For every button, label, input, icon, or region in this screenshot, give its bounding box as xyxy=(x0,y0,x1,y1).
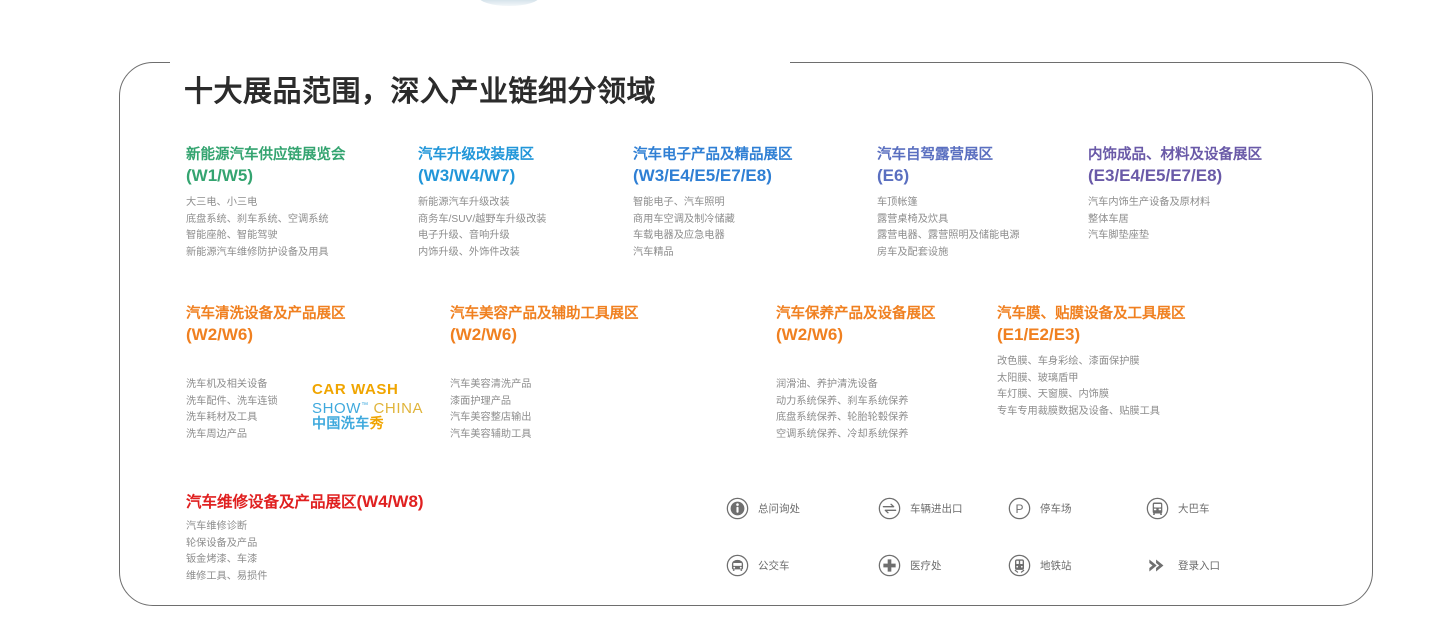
category-title: 汽车清洗设备及产品展区 xyxy=(186,305,346,324)
category-block-auto-electronics: 汽车电子产品及精品展区 (W3/E4/E5/E7/E8) 智能电子、汽车照明 商… xyxy=(633,146,793,261)
legend-label: 登录入口 xyxy=(1178,558,1220,573)
list-item: 底盘系统、刹车系统、空调系统 xyxy=(186,212,346,229)
category-halls: (E1/E2/E3) xyxy=(997,324,1186,345)
list-item: 车载电器及应急电器 xyxy=(633,228,793,245)
list-item: 汽车脚垫座垫 xyxy=(1088,228,1262,245)
category-halls: (E3/E4/E5/E7/E8) xyxy=(1088,165,1262,186)
medical-icon xyxy=(878,554,901,577)
category-title-text: 汽车维修设备及产品展区 xyxy=(186,494,357,511)
category-block-maintenance-products: 汽车保养产品及设备展区 (W2/W6) 润滑油、养护清洗设备 动力系统保养、刹车… xyxy=(776,305,936,443)
category-items: 汽车维修诊断 轮保设备及产品 钣金烤漆、车漆 维修工具、易损件 xyxy=(186,519,424,585)
category-title: 汽车保养产品及设备展区 xyxy=(776,305,936,324)
legend-label: 总问询处 xyxy=(758,501,800,516)
category-block-interior-materials: 内饰成品、材料及设备展区 (E3/E4/E5/E7/E8) 汽车内饰生产设备及原… xyxy=(1088,146,1262,245)
svg-text:P: P xyxy=(1016,502,1024,516)
logo-chinese-accent: 秀 xyxy=(370,415,384,431)
logo-chinese-text: 中国洗车 xyxy=(312,415,370,431)
category-items: 大三电、小三电 底盘系统、刹车系统、空调系统 智能座舱、智能驾驶 新能源汽车维修… xyxy=(186,195,346,261)
list-item: 漆面护理产品 xyxy=(450,394,639,411)
category-items: 润滑油、养护清洗设备 动力系统保养、刹车系统保养 底盘系统保养、轮胎轮毂保养 空… xyxy=(776,377,936,443)
category-halls: (W3/E4/E5/E7/E8) xyxy=(633,165,793,186)
legend-item-coach-bus: 大巴车 xyxy=(1146,497,1210,520)
category-block-new-energy-supply-chain: 新能源汽车供应链展览会 (W1/W5) 大三电、小三电 底盘系统、刹车系统、空调… xyxy=(186,146,346,261)
category-halls: (W2/W6) xyxy=(776,324,936,345)
logo-line-3: 中国洗车秀 xyxy=(312,416,423,432)
category-items: 智能电子、汽车照明 商用车空调及制冷储藏 车载电器及应急电器 汽车精品 xyxy=(633,195,793,261)
category-items: 新能源汽车升级改装 商务车/SUV/越野车升级改装 电子升级、音响升级 内饰升级… xyxy=(418,195,546,261)
coach-bus-icon xyxy=(1146,497,1169,520)
category-block-upgrade-modification: 汽车升级改装展区 (W3/W4/W7) 新能源汽车升级改装 商务车/SUV/越野… xyxy=(418,146,546,261)
category-block-repair-equipment: 汽车维修设备及产品展区(W4/W8) 汽车维修诊断 轮保设备及产品 钣金烤漆、车… xyxy=(186,492,424,585)
logo-china-text: CHINA xyxy=(373,400,423,417)
list-item: 大三电、小三电 xyxy=(186,195,346,212)
list-item: 汽车美容清洗产品 xyxy=(450,377,639,394)
category-title: 汽车自驾露营展区 xyxy=(877,146,1020,165)
list-item: 智能电子、汽车照明 xyxy=(633,195,793,212)
legend-item-medical: 医疗处 xyxy=(878,554,942,577)
category-block-car-beauty-products: 汽车美容产品及辅助工具展区 (W2/W6) 汽车美容清洗产品 漆面护理产品 汽车… xyxy=(450,305,639,443)
legend-item-metro-station: 地铁站 xyxy=(1008,554,1072,577)
list-item: 改色膜、车身彩绘、漆面保护膜 xyxy=(997,354,1186,371)
legend-item-city-bus: 公交车 xyxy=(726,554,790,577)
list-item: 专车专用裁膜数据及设备、贴膜工具 xyxy=(997,404,1186,421)
list-item: 太阳膜、玻璃盾甲 xyxy=(997,371,1186,388)
list-item: 房车及配套设施 xyxy=(877,245,1020,262)
list-item: 商务车/SUV/越野车升级改装 xyxy=(418,212,546,229)
trademark-icon: ™ xyxy=(361,402,369,409)
list-item: 汽车美容辅助工具 xyxy=(450,427,639,444)
list-item: 底盘系统保养、轮胎轮毂保养 xyxy=(776,410,936,427)
list-item: 汽车维修诊断 xyxy=(186,519,424,536)
legend-label: 医疗处 xyxy=(910,558,942,573)
list-item: 汽车美容整店输出 xyxy=(450,410,639,427)
list-item: 新能源汽车升级改装 xyxy=(418,195,546,212)
category-halls: (E6) xyxy=(877,165,1020,186)
list-item: 轮保设备及产品 xyxy=(186,536,424,553)
list-item: 露营桌椅及炊具 xyxy=(877,212,1020,229)
list-item: 维修工具、易损件 xyxy=(186,569,424,586)
metro-station-icon xyxy=(1008,554,1031,577)
list-item: 智能座舱、智能驾驶 xyxy=(186,228,346,245)
category-items: 改色膜、车身彩绘、漆面保护膜 太阳膜、玻璃盾甲 车灯膜、天窗膜、内饰膜 专车专用… xyxy=(997,354,1186,420)
information-icon xyxy=(726,497,749,520)
list-item: 动力系统保养、刹车系统保养 xyxy=(776,394,936,411)
logo-line-1: CAR WASH xyxy=(312,382,423,398)
city-bus-icon xyxy=(726,554,749,577)
category-block-film-wrapping: 汽车膜、贴膜设备及工具展区 (E1/E2/E3) 改色膜、车身彩绘、漆面保护膜 … xyxy=(997,305,1186,420)
legend-label: 地铁站 xyxy=(1040,558,1072,573)
parking-icon: P xyxy=(1008,497,1031,520)
category-title: 汽车升级改装展区 xyxy=(418,146,546,165)
legend-item-vehicle-entrance-exit: 车辆进出口 xyxy=(878,497,963,520)
list-item: 内饰升级、外饰件改装 xyxy=(418,245,546,262)
list-item: 车灯膜、天窗膜、内饰膜 xyxy=(997,387,1186,404)
list-item: 电子升级、音响升级 xyxy=(418,228,546,245)
category-halls: (W2/W6) xyxy=(450,324,639,345)
list-item: 新能源汽车维修防护设备及用具 xyxy=(186,245,346,262)
page-title: 十大展品范围，深入产业链细分领域 xyxy=(184,68,656,110)
category-title: 汽车美容产品及辅助工具展区 xyxy=(450,305,639,324)
category-halls: (W4/W8) xyxy=(357,492,424,511)
category-title: 汽车膜、贴膜设备及工具展区 xyxy=(997,305,1186,324)
legend-item-information: 总问询处 xyxy=(726,497,800,520)
legend-item-registration-entrance: 登录入口 xyxy=(1146,554,1220,577)
logo-show-text: SHOW xyxy=(312,400,361,417)
category-items: 汽车内饰生产设备及原材料 整体车居 汽车脚垫座垫 xyxy=(1088,195,1262,245)
legend-label: 公交车 xyxy=(758,558,790,573)
list-item: 露营电器、露营照明及储能电源 xyxy=(877,228,1020,245)
list-item: 汽车精品 xyxy=(633,245,793,262)
category-halls: (W2/W6) xyxy=(186,324,346,345)
legend-label: 大巴车 xyxy=(1178,501,1210,516)
list-item: 汽车内饰生产设备及原材料 xyxy=(1088,195,1262,212)
logo-line-2: SHOW™ CHINA xyxy=(312,398,423,417)
vehicle-entrance-exit-icon xyxy=(878,497,901,520)
category-items: 汽车美容清洗产品 漆面护理产品 汽车美容整店输出 汽车美容辅助工具 xyxy=(450,377,639,443)
category-title: 汽车电子产品及精品展区 xyxy=(633,146,793,165)
list-item: 钣金烤漆、车漆 xyxy=(186,552,424,569)
category-halls: (W3/W4/W7) xyxy=(418,165,546,186)
category-title: 新能源汽车供应链展览会 xyxy=(186,146,346,165)
list-item: 润滑油、养护清洗设备 xyxy=(776,377,936,394)
list-item: 商用车空调及制冷储藏 xyxy=(633,212,793,229)
category-halls: (W1/W5) xyxy=(186,165,346,186)
legend-label: 车辆进出口 xyxy=(910,501,963,516)
category-items: 车顶帐篷 露营桌椅及炊具 露营电器、露营照明及储能电源 房车及配套设施 xyxy=(877,195,1020,261)
category-title: 汽车维修设备及产品展区(W4/W8) xyxy=(186,492,424,512)
legend-item-parking: P 停车场 xyxy=(1008,497,1072,520)
registration-entrance-icon xyxy=(1146,554,1169,577)
category-title: 内饰成品、材料及设备展区 xyxy=(1088,146,1262,165)
map-legend: 总问询处 车辆进出口 P 停车场 xyxy=(726,497,1326,587)
list-item: 车顶帐篷 xyxy=(877,195,1020,212)
car-wash-show-china-logo: CAR WASH SHOW™ CHINA 中国洗车秀 xyxy=(312,382,423,432)
legend-label: 停车场 xyxy=(1040,501,1072,516)
list-item: 空调系统保养、冷却系统保养 xyxy=(776,427,936,444)
top-clipped-graphic xyxy=(478,0,540,6)
category-block-self-drive-camping: 汽车自驾露营展区 (E6) 车顶帐篷 露营桌椅及炊具 露营电器、露营照明及储能电… xyxy=(877,146,1020,261)
list-item: 整体车居 xyxy=(1088,212,1262,229)
